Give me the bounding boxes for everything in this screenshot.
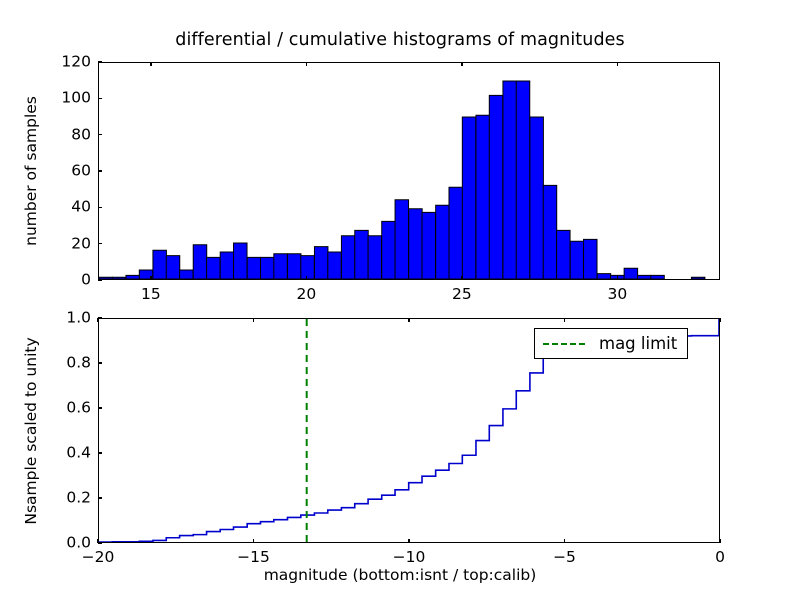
histogram-bar [489,95,502,279]
histogram-bar [395,200,408,279]
histogram-bar [691,277,704,279]
histogram-bar [274,254,287,279]
bottom-axes-xtick-label: −15 [237,550,270,566]
bottom-axes-xtick-label: −20 [82,550,115,566]
histogram-bar [112,277,125,279]
top-axes-ytick-mark [98,279,102,280]
histogram-bar [153,250,166,279]
histogram-bar [193,245,206,279]
top-axes-differential-histogram [98,62,720,280]
bottom-axes-xtick-mark [97,539,98,543]
histogram-bar [314,247,327,279]
top-axes-xtick-mark-top [150,62,151,66]
histogram-bar [557,230,570,279]
top-axes-ytick-mark [98,98,102,99]
top-axes-xtick-mark [306,276,307,280]
bottom-axes-ytick-label: 0.6 [66,400,91,416]
top-axes-ytick-label: 20 [71,236,91,252]
histogram-bars [99,63,719,279]
bottom-axes-xtick-label: 0 [715,550,725,566]
bottom-axes-ytick-mark [98,497,102,498]
bottom-axes-ytick-label: 0.4 [66,445,91,461]
histogram-bar [220,252,233,279]
histogram-bar [543,185,556,279]
histogram-bar [234,243,247,279]
top-axes-ytick-mark [98,243,102,244]
histogram-bar [409,209,422,279]
histogram-bar [597,274,610,279]
top-axes-ytick-label: 100 [61,91,91,107]
histogram-bar [651,275,664,279]
legend-dashed-line-icon [543,343,585,345]
bottom-axes-ytick-mark [98,362,102,363]
top-axes-ytick-label: 40 [71,200,91,216]
top-axes-ytick-label: 60 [71,163,91,179]
bottom-axes-xtick-label: −10 [393,550,426,566]
top-axes-ytick-mark [98,61,102,62]
top-axes-xtick-label: 30 [607,287,627,303]
top-axes-xtick-mark [461,276,462,280]
histogram-bar [287,254,300,279]
histogram-bar [341,236,354,279]
top-axes-ytick-label: 80 [71,127,91,143]
histogram-bar [570,241,583,279]
histogram-bar [624,268,637,279]
bottom-axes-ytick-mark [98,407,102,408]
top-axes-xtick-mark-top [461,62,462,66]
histogram-bar [584,239,597,279]
top-axes-xtick-label: 15 [141,287,161,303]
top-axes-ytick-label: 0 [81,272,91,288]
bottom-axes-ytick-label: 0.8 [66,355,91,371]
bottom-axes-xtick-mark [253,539,254,543]
histogram-bar [422,212,435,279]
histogram-bar [503,81,516,279]
bottom-axes-ytick-label: 1.0 [66,310,91,326]
bottom-axes-xtick-mark-top [253,318,254,322]
top-axes-ytick-mark [98,134,102,135]
bottom-axes-xtick-mark [719,539,720,543]
top-axes-xtick-mark-top [617,62,618,66]
bottom-axes-xtick-mark-top [719,318,720,322]
histogram-bar [436,205,449,279]
histogram-bar [530,117,543,279]
histogram-bar [328,252,341,279]
top-axes-ytick-mark [98,207,102,208]
histogram-bar [261,257,274,279]
histogram-bar [301,256,314,279]
histogram-bar [637,275,650,279]
histogram-bar [462,117,475,279]
histogram-bar [207,257,220,279]
bottom-axes-ylabel: Nsample scaled to unity [22,337,40,524]
histogram-bar [247,257,260,279]
bottom-axes-xtick-mark-top [408,318,409,322]
top-axes-ylabel: number of samples [22,96,40,246]
legend-label-mag-limit: mag limit [599,334,677,353]
bottom-axes-xtick-mark-top [97,318,98,322]
bottom-axes-ytick-mark [98,452,102,453]
top-axes-xtick-mark-top [306,62,307,66]
matplotlib-figure: differential / cumulative histograms of … [0,0,800,600]
bottom-axes-xtick-mark [408,539,409,543]
bottom-axes-xtick-mark-top [564,318,565,322]
top-axes-ytick-mark [98,170,102,171]
histogram-bar [355,230,368,279]
top-axes-ytick-label: 120 [61,54,91,70]
top-axes-xtick-mark [617,276,618,280]
top-axes-xtick-mark [150,276,151,280]
bottom-axes-ytick-label: 0.2 [66,490,91,506]
histogram-bar [382,221,395,279]
histogram-bar [476,115,489,279]
bottom-axes-xtick-mark [564,539,565,543]
histogram-bar [449,187,462,279]
top-axes-xtick-label: 20 [296,287,316,303]
histogram-bar [368,236,381,279]
figure-title: differential / cumulative histograms of … [0,30,800,50]
histogram-bar [166,256,179,279]
histogram-bar [180,270,193,279]
histogram-bar [516,81,529,279]
histogram-bar [126,275,139,279]
top-axes-xtick-label: 25 [452,287,472,303]
bottom-axes-xlabel: magnitude (bottom:isnt / top:calib) [0,566,800,584]
legend[interactable]: mag limit [534,328,688,359]
bottom-axes-xtick-label: −5 [553,550,576,566]
